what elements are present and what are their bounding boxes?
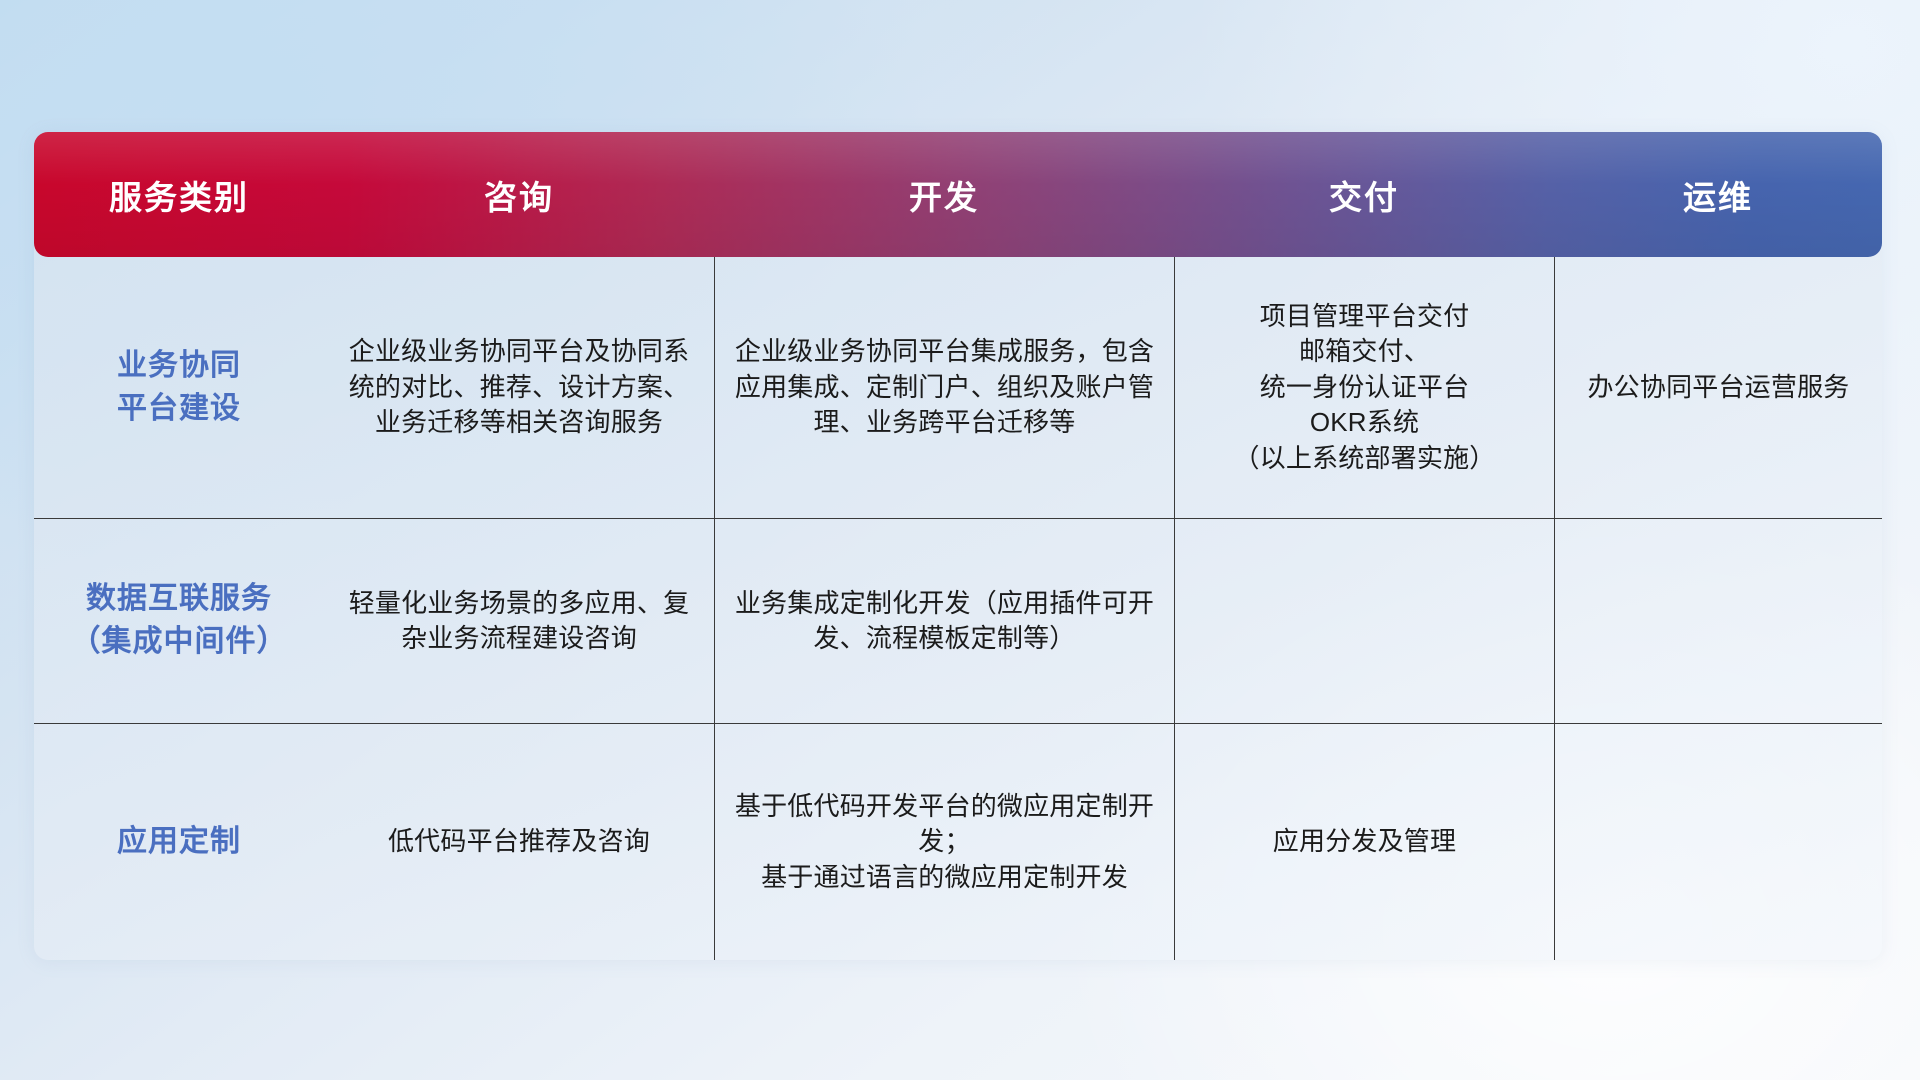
cell-operations-row3 <box>1554 724 1882 960</box>
row-label-data-interconnect: 数据互联服务 （集成中间件） <box>34 519 324 723</box>
table-row: 业务协同 平台建设 企业级业务协同平台及协同系统的对比、推荐、设计方案、业务迁移… <box>34 257 1882 519</box>
table-header-row: 服务类别 咨询 开发 交付 运维 <box>34 132 1882 257</box>
cell-delivery-row3: 应用分发及管理 <box>1174 724 1554 960</box>
table-row: 应用定制 低代码平台推荐及咨询 基于低代码开发平台的微应用定制开发； 基于通过语… <box>34 724 1882 960</box>
column-header-delivery: 交付 <box>1174 171 1554 219</box>
table-body: 业务协同 平台建设 企业级业务协同平台及协同系统的对比、推荐、设计方案、业务迁移… <box>34 257 1882 960</box>
cell-delivery-row2 <box>1174 519 1554 723</box>
service-matrix-table: 服务类别 咨询 开发 交付 运维 业务协同 平台建设 企业级业务协同平台及协同系… <box>34 132 1882 960</box>
cell-operations-row1: 办公协同平台运营服务 <box>1554 257 1882 518</box>
column-header-service-category: 服务类别 <box>34 171 324 219</box>
cell-consulting-row3: 低代码平台推荐及咨询 <box>324 724 714 960</box>
cell-development-row1: 企业级业务协同平台集成服务，包含应用集成、定制门户、组织及账户管理、业务跨平台迁… <box>714 257 1174 518</box>
cell-consulting-row1: 企业级业务协同平台及协同系统的对比、推荐、设计方案、业务迁移等相关咨询服务 <box>324 257 714 518</box>
row-label-business-collaboration: 业务协同 平台建设 <box>34 257 324 518</box>
cell-operations-row2 <box>1554 519 1882 723</box>
cell-development-row3: 基于低代码开发平台的微应用定制开发； 基于通过语言的微应用定制开发 <box>714 724 1174 960</box>
cell-consulting-row2: 轻量化业务场景的多应用、复杂业务流程建设咨询 <box>324 519 714 723</box>
column-header-development: 开发 <box>714 171 1174 219</box>
table-row: 数据互联服务 （集成中间件） 轻量化业务场景的多应用、复杂业务流程建设咨询 业务… <box>34 519 1882 724</box>
column-header-consulting: 咨询 <box>324 171 714 219</box>
cell-delivery-row1: 项目管理平台交付 邮箱交付、 统一身份认证平台 OKR系统 （以上系统部署实施） <box>1174 257 1554 518</box>
cell-development-row2: 业务集成定制化开发（应用插件可开发、流程模板定制等） <box>714 519 1174 723</box>
row-label-app-customization: 应用定制 <box>34 724 324 960</box>
slide-canvas: 服务类别 咨询 开发 交付 运维 业务协同 平台建设 企业级业务协同平台及协同系… <box>0 0 1920 1080</box>
column-header-operations: 运维 <box>1554 171 1882 219</box>
